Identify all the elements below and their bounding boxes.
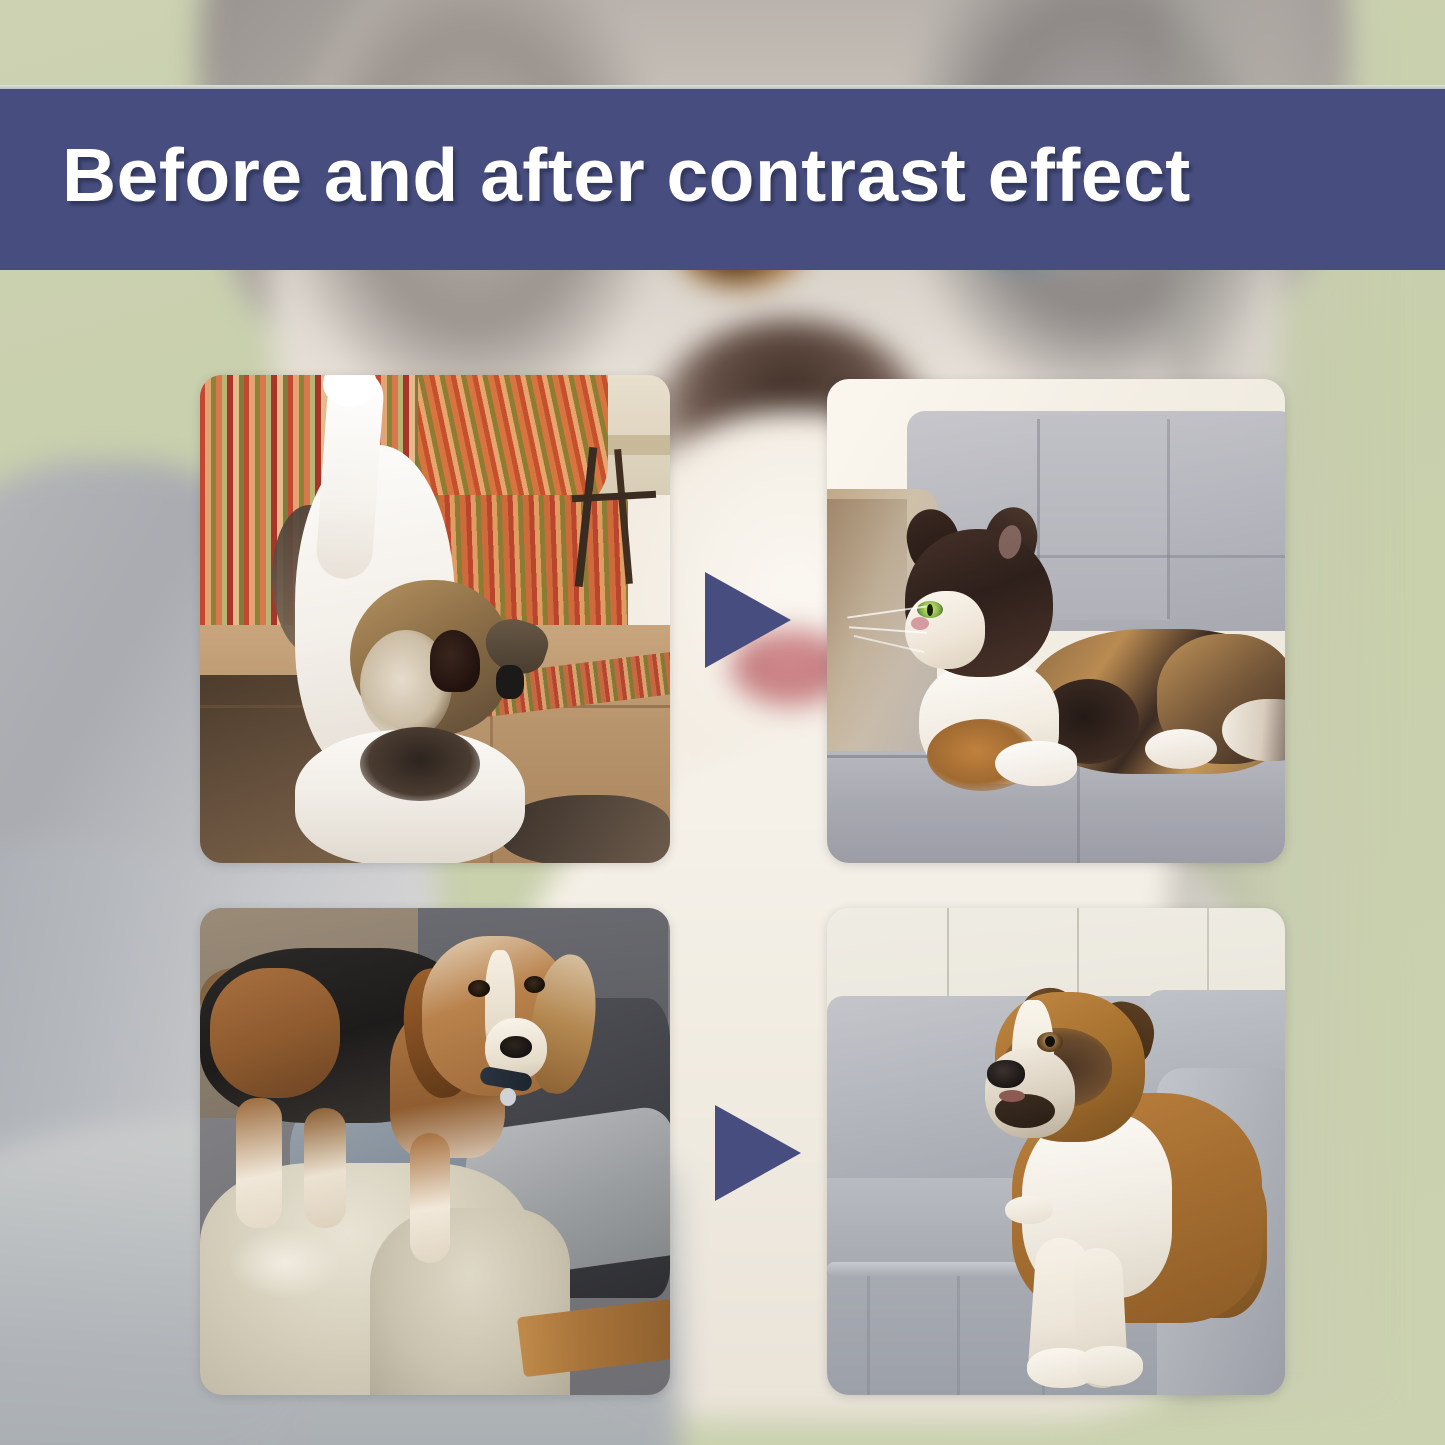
play-triangle-right-icon bbox=[703, 570, 793, 670]
dog-eye-left bbox=[468, 980, 490, 997]
photo-cat-scratching-striped-sofa bbox=[200, 375, 670, 863]
cat-tail bbox=[500, 795, 670, 863]
photo-card-cat-before[interactable] bbox=[200, 375, 670, 863]
dog-leg-mid bbox=[304, 1108, 346, 1228]
play-triangle-right-icon bbox=[713, 1103, 803, 1203]
photo-card-dog-after[interactable] bbox=[827, 908, 1285, 1395]
cat-nose bbox=[911, 617, 929, 630]
dog-leg-front bbox=[410, 1133, 450, 1263]
dog-collar-tag bbox=[500, 1088, 516, 1106]
photo-calico-cat-resting-gray-sofa bbox=[827, 379, 1285, 863]
seat-wrinkle-1 bbox=[867, 1276, 870, 1395]
photo-beagle-destroyed-couch bbox=[200, 908, 670, 1395]
page-title: Before and after contrast effect bbox=[62, 132, 1191, 218]
seat-wrinkle-2 bbox=[957, 1276, 960, 1395]
cat-collar bbox=[496, 665, 524, 699]
photo-card-dog-before[interactable] bbox=[200, 908, 670, 1395]
dog-hindquarters bbox=[210, 968, 340, 1098]
cat-chest-patch bbox=[360, 727, 480, 801]
cat-muzzle bbox=[905, 591, 985, 669]
cat-back-paw bbox=[1145, 729, 1217, 769]
dog-tucked-paw bbox=[1005, 1196, 1053, 1224]
photo-boxer-dog-sitting-gray-sofa bbox=[827, 908, 1285, 1395]
dog-front-paw-2 bbox=[1077, 1346, 1143, 1386]
sofa-back-cushion-center bbox=[1039, 415, 1167, 620]
dog-lip bbox=[999, 1090, 1025, 1102]
dog-eye-right bbox=[524, 976, 545, 993]
stuffing-wisp bbox=[230, 1228, 340, 1298]
cat-pupil bbox=[927, 604, 933, 616]
seat-fold bbox=[1077, 759, 1080, 863]
dog-leg-rear bbox=[236, 1098, 282, 1228]
dog-nose bbox=[987, 1060, 1025, 1088]
promo-graphic: Before and after contrast effect bbox=[0, 0, 1445, 1445]
cat-front-paw bbox=[995, 741, 1077, 786]
photo-card-cat-after[interactable] bbox=[827, 379, 1285, 863]
dog-nose bbox=[500, 1036, 532, 1058]
banner-top-highlight bbox=[0, 85, 1445, 89]
cushion-seam-right bbox=[1167, 419, 1170, 619]
dog-pupil bbox=[1045, 1036, 1055, 1047]
